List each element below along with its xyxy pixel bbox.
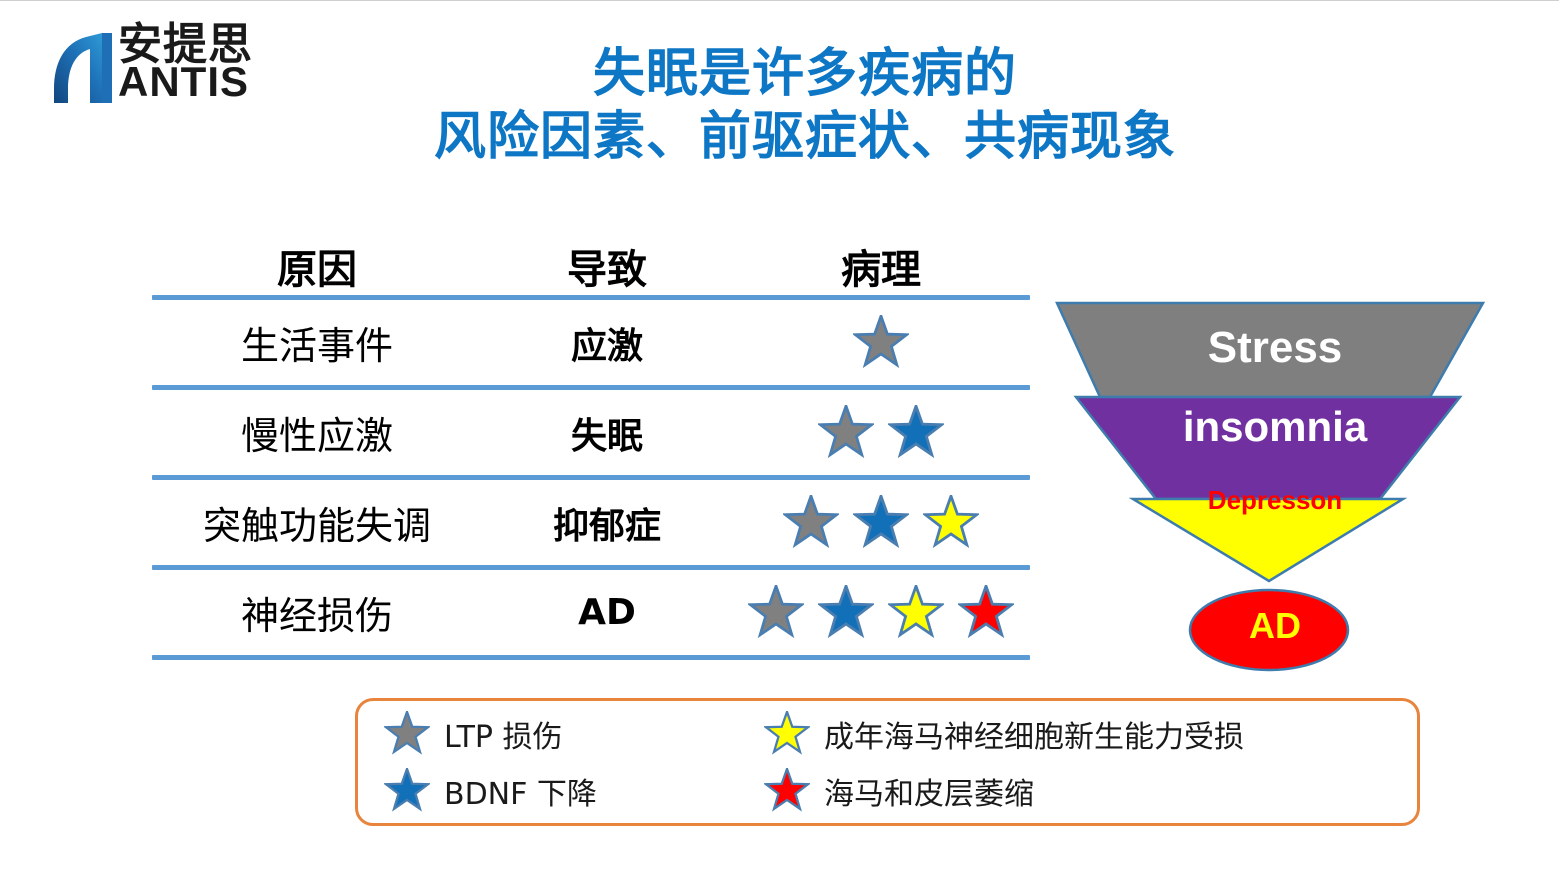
legend-star-blue-icon (384, 768, 430, 814)
cell-leads-to: 失眠 (571, 407, 643, 459)
funnel-level-stress-shape (1057, 303, 1483, 397)
legend-star-gray-icon (384, 711, 430, 757)
legend-item-label: BDNF 下降 (444, 769, 597, 813)
column-header-pathology: 病理 (732, 237, 1030, 295)
legend-item-label: 成年海马神经细胞新生能力受损 (824, 712, 1244, 756)
cell-pathology-stars (853, 315, 909, 371)
legend-star-yellow-icon (764, 711, 810, 757)
funnel-outcome-ad-shape (1190, 590, 1348, 670)
brand-logo: 安提思 ANTIS (46, 23, 253, 103)
legend-item-label: LTP 损伤 (444, 712, 563, 756)
slide-canvas: 安提思 ANTIS 失眠是许多疾病的 风险因素、前驱症状、共病现象 原因 导致 … (0, 1, 1559, 879)
column-header-cause: 原因 (152, 237, 482, 295)
table-rule (152, 655, 1030, 660)
cell-pathology-stars (783, 495, 979, 551)
brand-name-en: ANTIS (118, 61, 253, 103)
funnel-level-depression-shape (1133, 499, 1403, 581)
legend-item: 海马和皮层萎缩 (764, 768, 1417, 814)
table-header-row: 原因 导致 病理 (152, 233, 1030, 295)
table-row: 慢性应激 失眠 (152, 390, 1030, 475)
cell-leads-to: 抑郁症 (553, 497, 661, 549)
antis-logo-mark-icon (46, 31, 114, 103)
cell-pathology-stars (818, 405, 944, 461)
legend-star-red-icon (764, 768, 810, 814)
table-row: 突触功能失调 抑郁症 (152, 480, 1030, 565)
slide-title: 失眠是许多疾病的 风险因素、前驱症状、共病现象 (300, 43, 1310, 170)
legend-item: LTP 损伤 (384, 711, 764, 757)
progression-funnel-diagram: Stress insomnia Depresson AD (1040, 297, 1510, 687)
table-row: 生活事件 应激 (152, 300, 1030, 385)
slide-title-line-1: 失眠是许多疾病的 (300, 43, 1310, 106)
legend-item: BDNF 下降 (384, 768, 764, 814)
cell-pathology-stars (748, 585, 1014, 641)
cell-cause: 突触功能失调 (203, 495, 431, 550)
funnel-level-insomnia-shape (1076, 397, 1460, 499)
star-legend: LTP 损伤 成年海马神经细胞新生能力受损 BDNF 下降 海马和皮层萎缩 (355, 698, 1420, 826)
legend-item-label: 海马和皮层萎缩 (824, 769, 1034, 813)
slide-title-line-2: 风险因素、前驱症状、共病现象 (300, 106, 1310, 169)
cell-cause: 神经损伤 (241, 585, 393, 640)
table-row: 神经损伤 AD (152, 570, 1030, 655)
cell-leads-to: AD (578, 592, 636, 633)
cell-leads-to: 应激 (571, 317, 643, 369)
pathology-table: 原因 导致 病理 生活事件 应激 慢性应激 失眠 突触功能失调 抑郁症 神经损伤… (152, 233, 1030, 660)
cell-cause: 慢性应激 (241, 405, 393, 460)
column-header-leads-to: 导致 (482, 237, 732, 295)
funnel-shapes (1040, 297, 1510, 687)
legend-item: 成年海马神经细胞新生能力受损 (764, 711, 1417, 757)
cell-cause: 生活事件 (241, 315, 393, 370)
